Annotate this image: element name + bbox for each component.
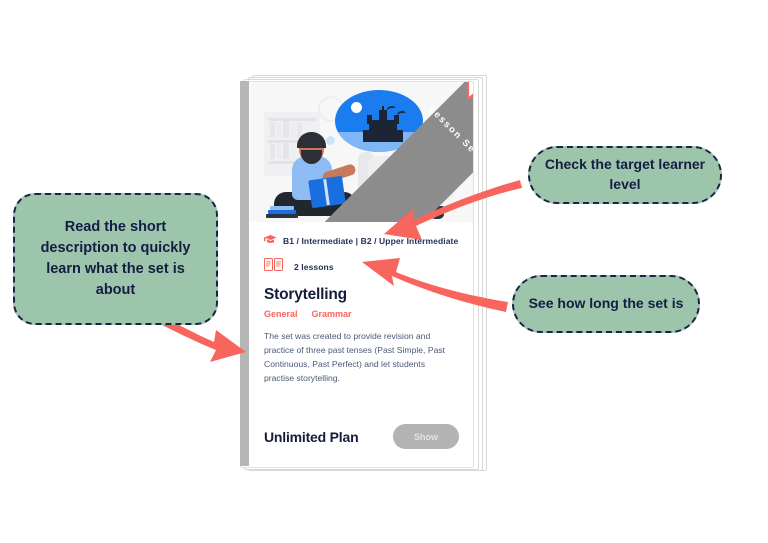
pile-book-1 — [266, 214, 298, 218]
tag-list: General Grammar — [250, 309, 473, 319]
card-illustration: Lesson Set — [250, 82, 473, 222]
castle-tower-center — [379, 110, 387, 124]
level-text: B1 / Intermediate | B2 / Upper Intermedi… — [283, 236, 458, 246]
moon-icon — [351, 102, 362, 113]
bookmark-icon[interactable] — [466, 81, 474, 102]
callout-set-length: See how long the set is — [512, 275, 700, 333]
callout-check-level: Check the target learner level — [528, 146, 722, 204]
adult-hair — [297, 132, 326, 148]
card-title: Storytelling — [250, 286, 473, 304]
documents-icon — [264, 258, 288, 276]
lesson-set-card[interactable]: Lesson Set B1 / Intermediate | B2 / Uppe… — [240, 81, 474, 468]
book-page-fold — [323, 179, 330, 205]
tag-general[interactable]: General — [264, 309, 298, 319]
card-description: The set was created to provide revision … — [250, 330, 473, 386]
lessons-row: 2 lessons — [250, 258, 473, 276]
castle-spire — [382, 106, 384, 112]
lesson-set-card-stack[interactable]: Lesson Set B1 / Intermediate | B2 / Uppe… — [240, 75, 486, 473]
card-stack-spine — [240, 81, 249, 466]
lessons-count-text: 2 lessons — [294, 262, 334, 272]
pile-book-2 — [268, 210, 296, 214]
tag-grammar[interactable]: Grammar — [312, 309, 352, 319]
plan-label: Unlimited Plan — [264, 429, 358, 445]
pile-book-3 — [270, 206, 294, 210]
level-row: B1 / Intermediate | B2 / Upper Intermedi… — [250, 232, 473, 250]
card-footer: Unlimited Plan Show — [250, 424, 473, 449]
card-body: B1 / Intermediate | B2 / Upper Intermedi… — [250, 222, 473, 467]
castle-tower-left — [367, 115, 372, 124]
book-pile — [266, 206, 300, 218]
screenshot-stage: Lesson Set B1 / Intermediate | B2 / Uppe… — [0, 0, 768, 543]
show-button[interactable]: Show — [393, 424, 459, 449]
callout-read-description: Read the short description to quickly le… — [13, 193, 218, 325]
castle-silhouette — [363, 108, 403, 142]
bookshelf-row-1 — [268, 118, 316, 121]
graduation-cap-icon — [264, 232, 277, 250]
open-book — [308, 176, 346, 208]
castle-tower-right — [394, 115, 399, 124]
